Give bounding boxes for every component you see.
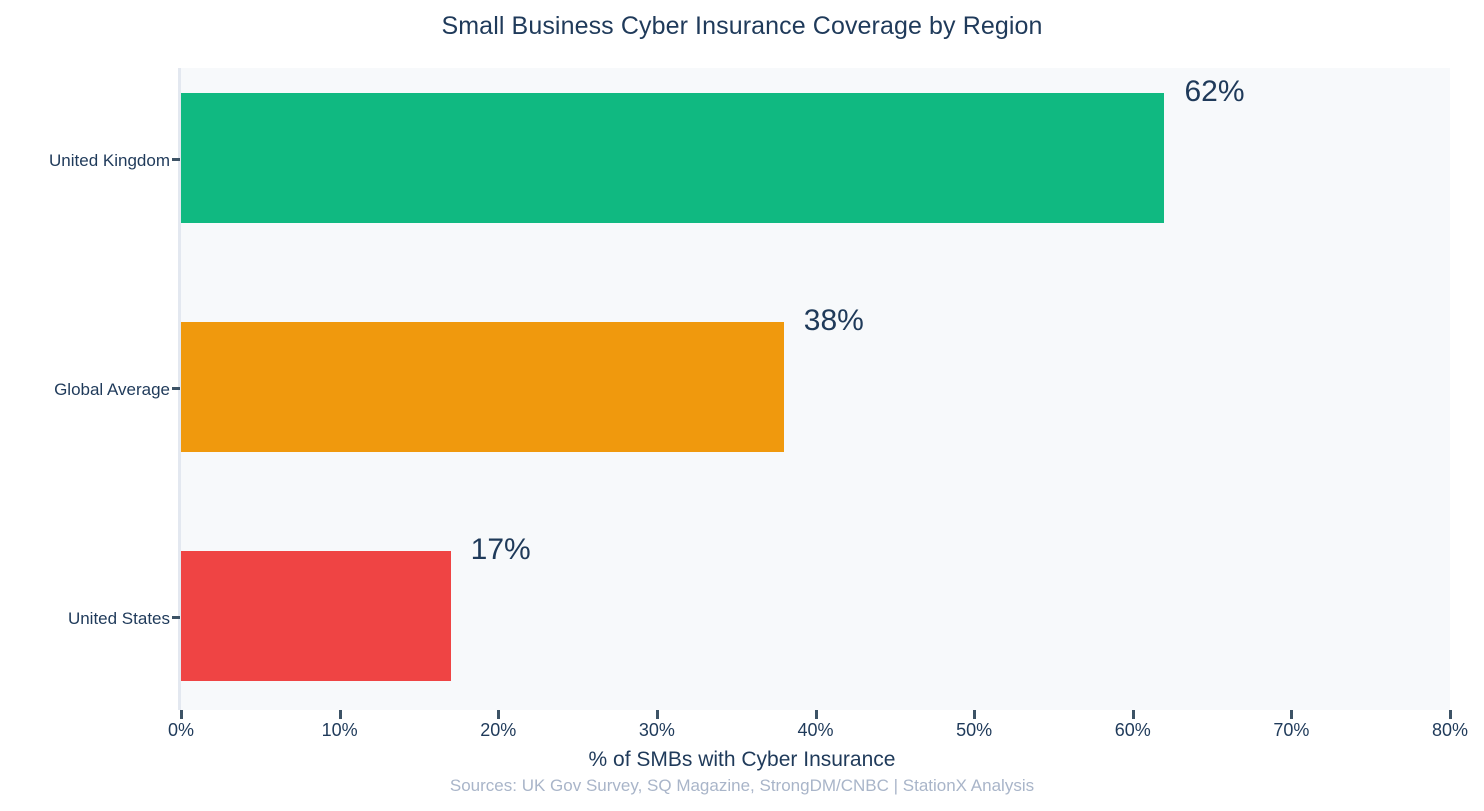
- x-tick-label: 60%: [1115, 721, 1151, 739]
- y-tick-label-united-states: United States: [68, 610, 170, 627]
- x-tick-label: 30%: [639, 721, 675, 739]
- x-tick-mark: [1132, 710, 1135, 719]
- bar-value-label-united-kingdom: 62%: [1184, 77, 1244, 107]
- x-axis-title: % of SMBs with Cyber Insurance: [0, 748, 1484, 772]
- x-tick-label: 80%: [1432, 721, 1468, 739]
- y-tick-label-global-average: Global Average: [54, 381, 170, 398]
- x-tick-mark: [815, 710, 818, 719]
- x-tick-label: 70%: [1273, 721, 1309, 739]
- y-tick-mark: [172, 158, 180, 161]
- plot-area: [181, 68, 1450, 710]
- x-tick-mark: [180, 710, 183, 719]
- chart-figure: Small Business Cyber Insurance Coverage …: [0, 0, 1484, 811]
- x-tick-mark: [339, 710, 342, 719]
- x-tick-mark: [656, 710, 659, 719]
- x-tick-mark: [1449, 710, 1452, 719]
- x-tick-label: 10%: [322, 721, 358, 739]
- source-note: Sources: UK Gov Survey, SQ Magazine, Str…: [0, 776, 1484, 796]
- x-tick-label: 50%: [956, 721, 992, 739]
- y-tick-mark: [172, 616, 180, 619]
- x-tick-label: 20%: [480, 721, 516, 739]
- bar-value-label-global-average: 38%: [804, 306, 864, 336]
- bar-united-kingdom: [181, 93, 1164, 223]
- y-tick-label-united-kingdom: United Kingdom: [49, 152, 170, 169]
- chart-title: Small Business Cyber Insurance Coverage …: [0, 12, 1484, 41]
- x-tick-mark: [1290, 710, 1293, 719]
- bar-value-label-united-states: 17%: [471, 535, 531, 565]
- bar-global-average: [181, 322, 784, 452]
- y-tick-mark: [172, 387, 180, 390]
- x-tick-label: 40%: [797, 721, 833, 739]
- x-tick-mark: [497, 710, 500, 719]
- x-tick-label: 0%: [168, 721, 194, 739]
- bar-united-states: [181, 551, 451, 681]
- x-tick-mark: [973, 710, 976, 719]
